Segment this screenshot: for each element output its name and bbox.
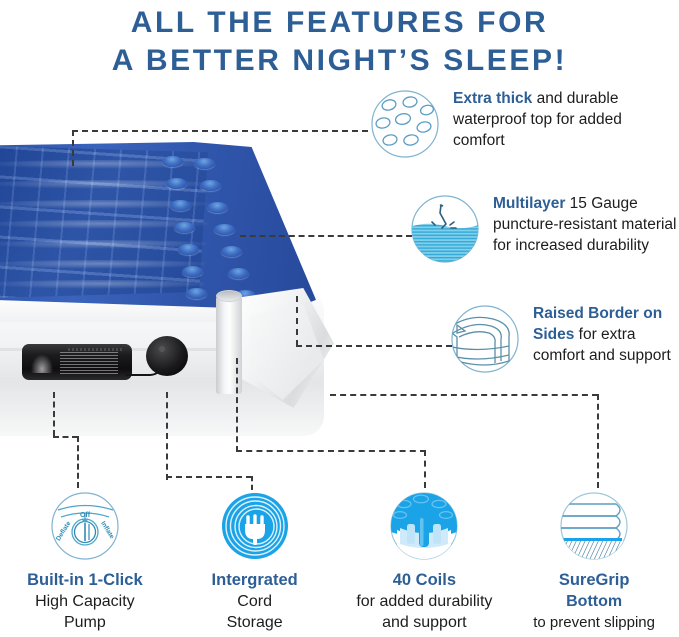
- title-line-2: A BETTER NIGHT’S SLEEP!: [0, 42, 679, 80]
- feature-suregrip-title: SureGrip: [509, 570, 679, 591]
- connector-raised-h1: [296, 345, 452, 347]
- callout-extra-thick-highlight: Extra thick: [453, 90, 532, 107]
- border-dimples: [0, 136, 324, 316]
- feature-row: Off Deflate Inflate Built-in 1-Click Hig…: [0, 484, 679, 633]
- feature-cord-sub1: Cord: [170, 591, 340, 612]
- connector-multilayer-h: [240, 235, 412, 237]
- connector-pump-v2: [77, 436, 79, 488]
- raised-border-icon: [449, 303, 521, 375]
- feature-suregrip-sub1: Bottom: [509, 591, 679, 612]
- feature-pump-sub1: High Capacity: [0, 591, 170, 612]
- feature-built-in-pump: Off Deflate Inflate Built-in 1-Click Hig…: [0, 484, 170, 633]
- connector-cord-h: [166, 476, 252, 478]
- connector-pump-h: [53, 436, 78, 438]
- svg-text:Off: Off: [80, 512, 91, 519]
- callout-extra-thick-text: Extra thick and durable waterproof top f…: [453, 88, 639, 151]
- built-in-pump-unit: [22, 344, 132, 380]
- feature-suregrip-bottom: SureGrip Bottom to prevent slipping: [509, 484, 679, 633]
- plug-cord-icon: [215, 484, 295, 564]
- connector-coils-v2: [424, 450, 426, 488]
- connector-raised-v: [296, 296, 298, 346]
- callout-raised-border: Raised Border on Sides for extra comfort…: [449, 303, 679, 375]
- title-line-1: ALL THE FEATURES FOR: [0, 4, 679, 42]
- connector-cord-v1: [166, 392, 168, 480]
- pump-vent: [68, 348, 124, 351]
- page-title: ALL THE FEATURES FOR A BETTER NIGHT’S SL…: [0, 0, 679, 80]
- feature-40-coils: 40 Coils for added durability and suppor…: [340, 484, 510, 633]
- feature-coils-sub1: for added durability: [340, 591, 510, 612]
- suregrip-bottom-icon: [554, 484, 634, 564]
- callout-extra-thick: Extra thick and durable waterproof top f…: [369, 88, 639, 160]
- feature-coils-sub2: and support: [340, 612, 510, 633]
- feature-suregrip-sub2: to prevent slipping: [509, 612, 679, 633]
- connector-pump-v1: [53, 392, 55, 436]
- feature-coils-title: 40 Coils: [340, 570, 510, 591]
- pump-brand-mark: [30, 353, 54, 373]
- connector-suregrip-v: [597, 394, 599, 488]
- callout-multilayer-highlight: Multilayer: [493, 195, 565, 212]
- svg-text:Deflate: Deflate: [55, 520, 73, 542]
- feature-pump-sub2: Pump: [0, 612, 170, 633]
- mattress-blue-deck: [0, 136, 324, 316]
- callout-multilayer-text: Multilayer 15 Gauge puncture-resistant m…: [493, 193, 679, 256]
- connector-suregrip-h: [330, 394, 598, 396]
- connector-extra-thick-h: [72, 130, 368, 132]
- connector-coils-h: [236, 450, 426, 452]
- pump-dial-icon: Off Deflate Inflate: [45, 484, 125, 564]
- feature-cord-title: Intergrated: [170, 570, 340, 591]
- needle-water-layers-icon: [409, 193, 481, 265]
- callout-multilayer: Multilayer 15 Gauge puncture-resistant m…: [409, 193, 679, 265]
- feature-pump-title: Built-in 1-Click: [0, 570, 170, 591]
- pump-label: [60, 352, 118, 375]
- product-photo: [0, 136, 340, 456]
- svg-text:Inflate: Inflate: [99, 520, 115, 540]
- feature-cord-sub2: Storage: [170, 612, 340, 633]
- coils-cutaway-icon: [384, 484, 464, 564]
- connector-extra-thick-v: [72, 130, 74, 166]
- cord-storage-cap: [146, 336, 188, 376]
- callout-raised-text: Raised Border on Sides for extra comfort…: [533, 303, 679, 366]
- feature-cord-storage: Intergrated Cord Storage: [170, 484, 340, 633]
- coil-post: [216, 296, 242, 394]
- connector-coils-v1: [236, 358, 238, 452]
- dimpled-surface-icon: [369, 88, 441, 160]
